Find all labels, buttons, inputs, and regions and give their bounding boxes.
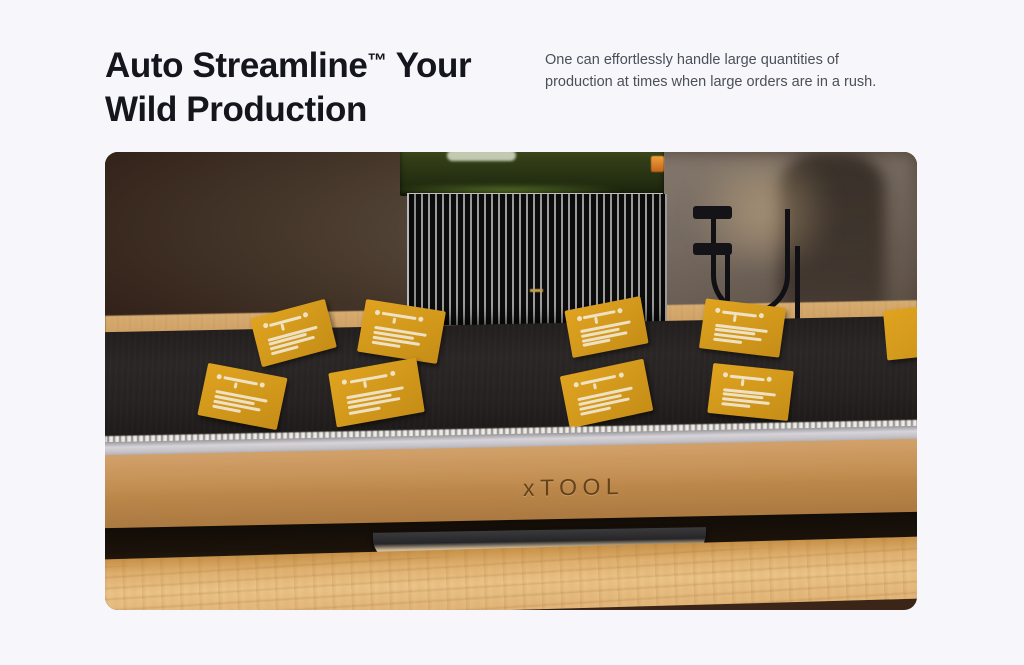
engraving-mark — [350, 374, 388, 384]
engraved-card — [699, 298, 786, 358]
engraving-mark — [573, 382, 579, 388]
page-title: Auto Streamline™ Your Wild Production — [105, 44, 545, 132]
engraving-mark — [721, 402, 750, 408]
cable-connector-upper — [693, 206, 732, 219]
engraving-mark — [712, 338, 741, 344]
engraving-mark — [580, 375, 616, 386]
engraving-mark — [234, 381, 238, 388]
engraving-mark — [618, 372, 624, 378]
engraving-mark — [269, 315, 302, 326]
card-engraving-artwork — [206, 369, 280, 423]
engraving-mark — [583, 311, 616, 320]
product-photo: xTOOL — [105, 152, 917, 610]
engraving-mark — [381, 312, 416, 320]
engraving-mark — [418, 317, 424, 323]
laser-beam-spot — [530, 289, 543, 291]
engraving-mark — [281, 323, 285, 330]
trademark-symbol: ™ — [367, 50, 387, 72]
section-header: Auto Streamline™ Your Wild Production On… — [105, 44, 917, 132]
engraving-mark — [617, 308, 623, 314]
engraving-mark — [593, 383, 597, 390]
engraving-mark — [741, 379, 745, 386]
engraving-mark — [263, 323, 269, 329]
engraving-mark — [723, 373, 729, 378]
engraving-mark — [733, 315, 737, 322]
engraving-mark — [594, 317, 598, 324]
card-engraving-artwork — [715, 369, 786, 416]
engraving-mark — [342, 379, 348, 385]
card-engraving-artwork — [337, 364, 416, 420]
section-subcopy: One can effortlessly handle large quanti… — [545, 44, 905, 94]
engraving-mark — [260, 381, 266, 387]
engraving-mark — [224, 376, 258, 385]
engraving-mark — [722, 310, 757, 317]
engraving-mark — [363, 381, 367, 388]
engraving-mark — [715, 308, 721, 314]
engraving-mark — [730, 375, 765, 382]
engraving-mark — [303, 312, 309, 318]
card-engraving-artwork — [568, 366, 645, 422]
engraved-card — [707, 363, 794, 421]
engraving-mark — [390, 371, 396, 377]
xtool-brand-logo: xTOOL — [523, 472, 624, 501]
engraving-mark — [576, 316, 582, 322]
card-engraving-artwork — [572, 302, 641, 352]
engraving-mark — [392, 318, 396, 325]
product-image-card: xTOOL xTOOL laser engraver with automati… — [105, 152, 917, 610]
engraving-mark — [759, 313, 765, 319]
engraving-mark — [217, 373, 223, 379]
page-title-text: Auto Streamline — [105, 46, 367, 85]
card-engraving-artwork — [365, 306, 438, 358]
engraving-mark — [767, 377, 773, 382]
engraving-mark — [375, 310, 381, 316]
cable-connector-lower — [693, 243, 732, 256]
card-engraving-artwork — [707, 304, 779, 352]
status-indicator-light — [651, 156, 663, 172]
landing-section: Auto Streamline™ Your Wild Production On… — [0, 0, 1024, 665]
